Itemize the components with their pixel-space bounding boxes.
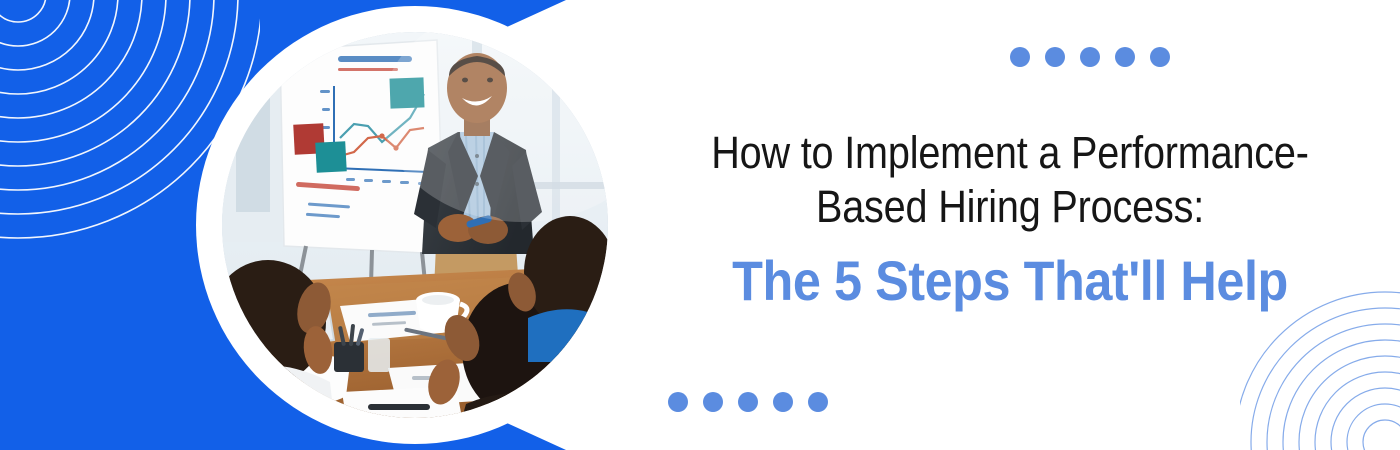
meeting-photo-illustration xyxy=(222,32,608,418)
dot-icon xyxy=(668,392,688,412)
page-subtitle: The 5 Steps That'll Help xyxy=(659,248,1361,314)
dot-icon xyxy=(773,392,793,412)
dot-icon xyxy=(1150,47,1170,67)
dot-icon xyxy=(738,392,758,412)
page-title: How to Implement a Performance-Based Hir… xyxy=(667,126,1353,234)
blog-header-banner: How to Implement a Performance-Based Hir… xyxy=(0,0,1400,450)
dot-icon xyxy=(1080,47,1100,67)
dot-icon xyxy=(808,392,828,412)
dot-row-top xyxy=(1010,47,1170,67)
dot-icon xyxy=(1045,47,1065,67)
dot-row-bottom xyxy=(668,392,828,412)
dot-icon xyxy=(1115,47,1135,67)
headline-block: How to Implement a Performance-Based Hir… xyxy=(620,0,1400,450)
dot-icon xyxy=(1010,47,1030,67)
meeting-photo xyxy=(222,32,608,418)
dot-icon xyxy=(703,392,723,412)
